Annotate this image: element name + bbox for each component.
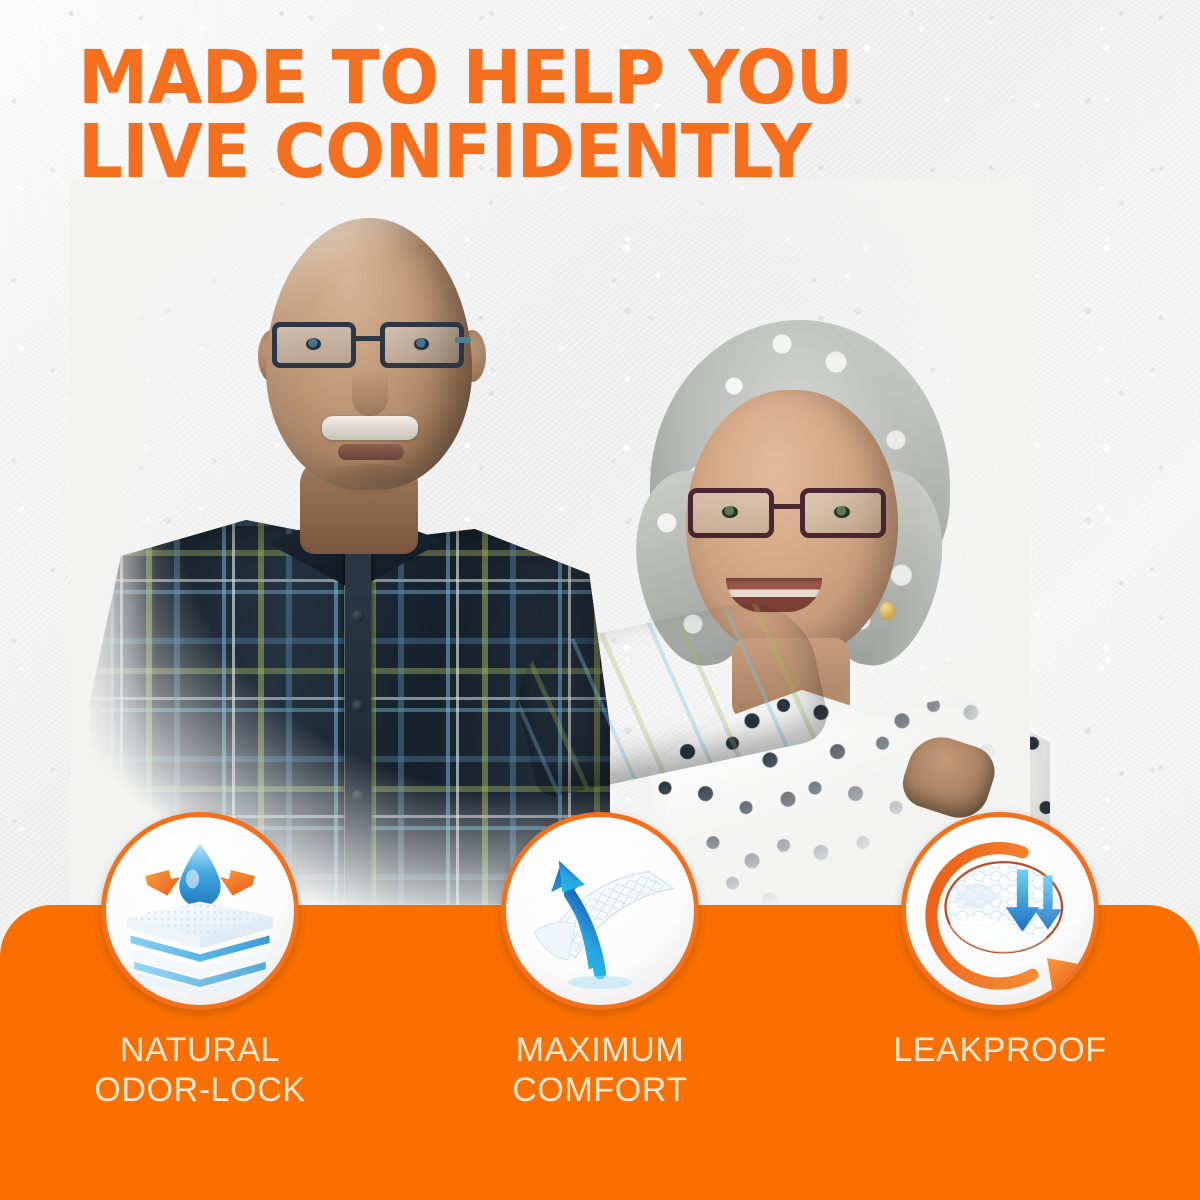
woman-eye-right — [834, 506, 850, 518]
feature-label: MAXIMUM COMFORT — [512, 1030, 687, 1110]
feature-natural-odor-lock[interactable]: NATURAL ODOR-LOCK — [0, 812, 400, 1152]
feature-label: LEAKPROOF — [893, 1030, 1106, 1070]
features-row: NATURAL ODOR-LOCK — [0, 812, 1200, 1152]
headline-line-1: MADE TO HELP YOU — [78, 44, 853, 112]
woman-eye-left — [722, 506, 738, 518]
man-mouth — [338, 444, 404, 460]
man-shirt-button — [352, 610, 364, 622]
man-shirt-button — [352, 790, 364, 802]
man-shirt-button — [352, 700, 364, 712]
woman-glasses-bridge — [774, 504, 804, 509]
feature-label: NATURAL ODOR-LOCK — [94, 1030, 305, 1110]
breathable-pad-arrow-icon — [501, 812, 699, 1010]
absorbent-layers-droplet-icon — [101, 812, 299, 1010]
product-ad-banner: MADE TO HELP YOU LIVE CONFIDENTLY — [0, 0, 1200, 1200]
leakproof-quilt-arrows-icon — [901, 812, 1099, 1010]
man-mustache — [322, 416, 418, 440]
headline: MADE TO HELP YOU LIVE CONFIDENTLY — [78, 44, 809, 186]
feature-maximum-comfort[interactable]: MAXIMUM COMFORT — [400, 812, 800, 1152]
man-nose — [352, 368, 388, 416]
man-glasses-bridge — [356, 336, 382, 341]
headline-line-2: LIVE CONFIDENTLY — [78, 118, 853, 186]
feature-leakproof[interactable]: LEAKPROOF — [800, 812, 1200, 1152]
man-glasses-temple — [455, 337, 471, 343]
woman-earring — [880, 602, 895, 620]
man-eye-right — [414, 338, 429, 350]
man-eye-left — [306, 338, 321, 350]
man-glasses — [268, 322, 472, 374]
woman-glasses — [688, 488, 894, 544]
man-chin — [316, 464, 424, 498]
